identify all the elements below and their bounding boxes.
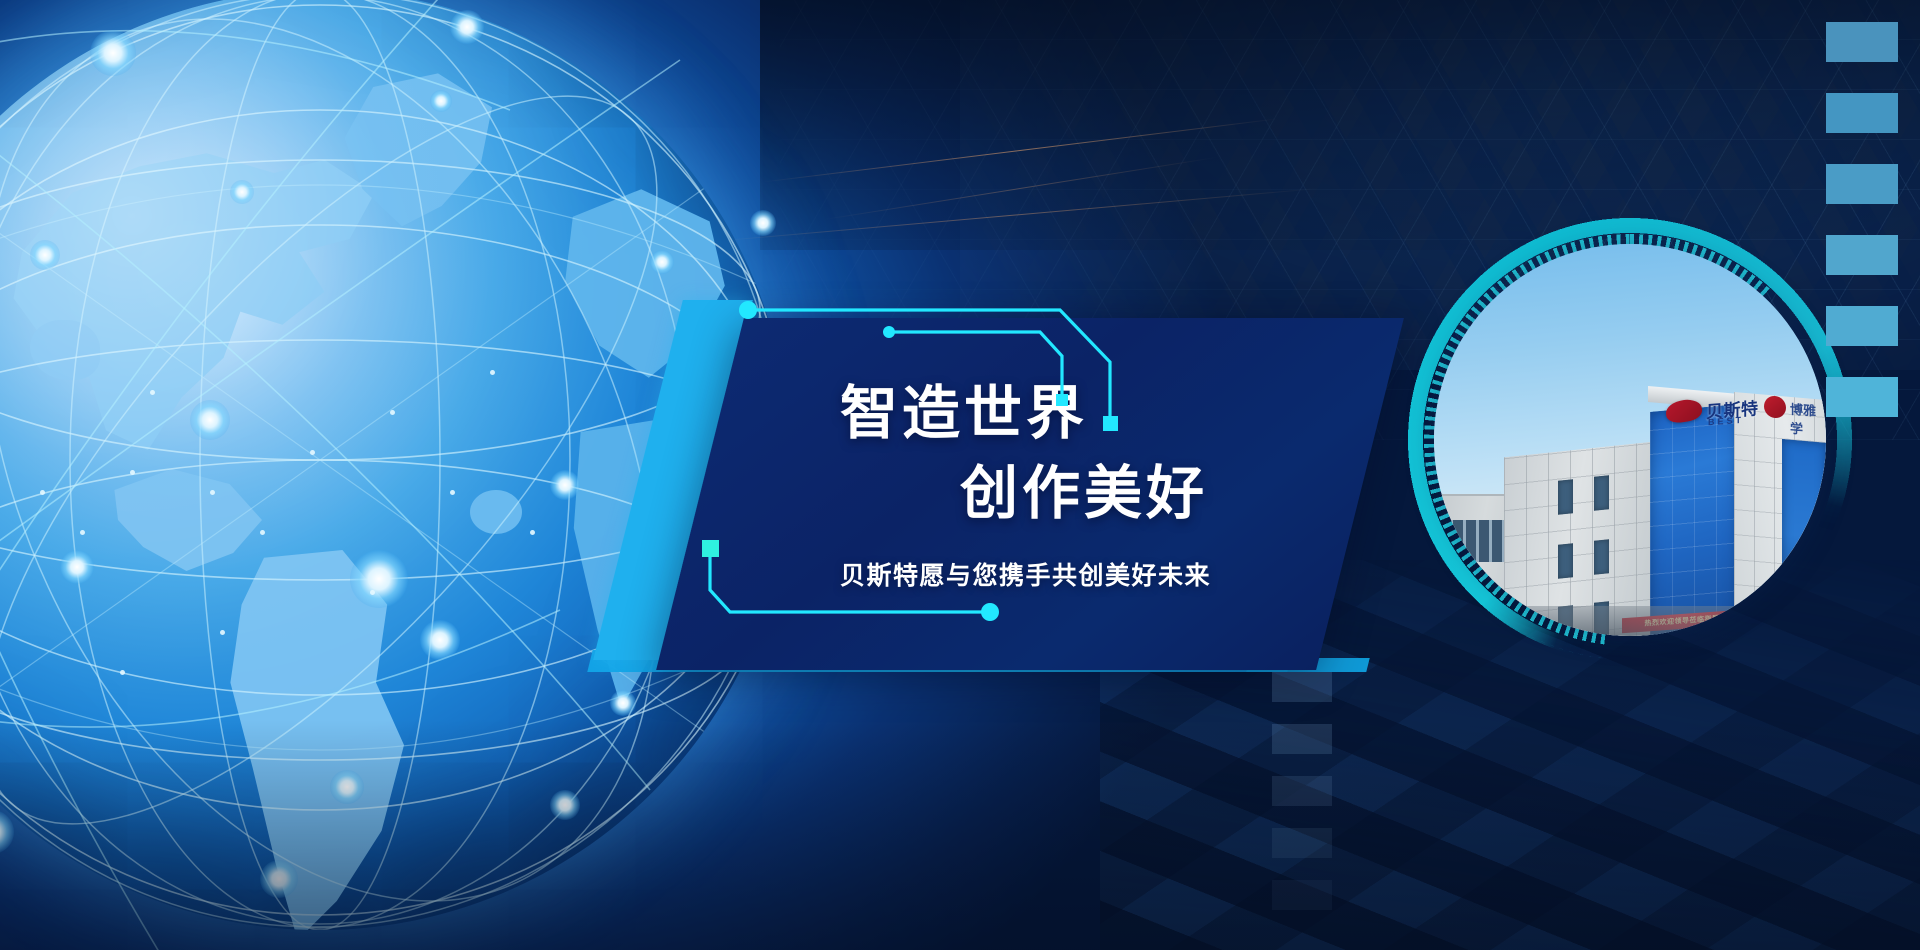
edge-bar-5 bbox=[1826, 306, 1898, 346]
globe-micro-dot bbox=[390, 410, 395, 415]
globe-node bbox=[330, 770, 364, 804]
continent-island-1 bbox=[30, 320, 100, 380]
globe-node bbox=[230, 180, 254, 204]
globe-node bbox=[650, 250, 674, 274]
globe-node bbox=[550, 470, 580, 500]
building-sign-secondary: 博雅学 bbox=[1790, 399, 1826, 440]
mid-bar-3 bbox=[1272, 776, 1332, 806]
globe-micro-dot bbox=[490, 370, 495, 375]
globe-micro-dot bbox=[120, 670, 125, 675]
globe-micro-dot bbox=[260, 530, 265, 535]
globe-micro-dot bbox=[370, 590, 375, 595]
globe-node bbox=[550, 790, 580, 820]
right-edge-bar-group bbox=[1826, 22, 1898, 448]
globe-micro-dot bbox=[130, 470, 135, 475]
building-window bbox=[1558, 543, 1573, 579]
globe-node bbox=[350, 550, 408, 608]
globe-micro-dot bbox=[40, 490, 45, 495]
edge-bar-3 bbox=[1826, 164, 1898, 204]
headline-line-1: 智造世界 bbox=[840, 366, 1088, 450]
continent-greenland bbox=[330, 70, 510, 240]
globe-node bbox=[420, 620, 460, 660]
globe-node bbox=[430, 90, 452, 112]
globe-micro-dot bbox=[80, 530, 85, 535]
continent-central-america bbox=[100, 460, 280, 610]
globe-micro-dot bbox=[150, 390, 155, 395]
mid-bar-2 bbox=[1272, 724, 1332, 754]
globe-node bbox=[610, 690, 636, 716]
mid-bar-4 bbox=[1272, 828, 1332, 858]
globe-node bbox=[450, 10, 484, 44]
continent-island-2 bbox=[470, 490, 522, 534]
company-building-photo: 贝斯特 BEST 博雅学 热烈欢迎领导莅临指导 bbox=[1434, 244, 1826, 636]
photo-ground bbox=[1434, 606, 1826, 636]
globe-node bbox=[30, 240, 60, 270]
edge-bar-6 bbox=[1826, 377, 1898, 417]
continent-south-america bbox=[180, 550, 460, 930]
building-window bbox=[1594, 539, 1609, 575]
edge-bar-1 bbox=[1826, 22, 1898, 62]
globe-micro-dot bbox=[210, 490, 215, 495]
globe-node bbox=[90, 30, 136, 76]
edge-bar-4 bbox=[1826, 235, 1898, 275]
globe-micro-dot bbox=[450, 490, 455, 495]
mid-bar-1 bbox=[1272, 672, 1332, 702]
building-glass-curtain bbox=[1650, 404, 1738, 636]
building-window bbox=[1594, 475, 1609, 511]
banner-subtitle: 贝斯特愿与您携手共创美好未来 bbox=[840, 556, 1211, 592]
secondary-logo-mark bbox=[1764, 395, 1786, 419]
lower-mid-bar-group bbox=[1272, 672, 1332, 932]
edge-bar-2 bbox=[1826, 93, 1898, 133]
headline-line-2: 创作美好 bbox=[960, 446, 1208, 530]
panel-text-group: 智造世界 创作美好 贝斯特愿与您携手共创美好未来 bbox=[700, 318, 1400, 670]
globe-micro-dot bbox=[530, 530, 535, 535]
hero-banner: 智造世界 创作美好 贝斯特愿与您携手共创美好未来 bbox=[0, 0, 1920, 950]
globe-node bbox=[260, 860, 298, 898]
building-window bbox=[1558, 479, 1573, 515]
globe-micro-dot bbox=[310, 450, 315, 455]
globe-node bbox=[190, 400, 230, 440]
globe-micro-dot bbox=[220, 630, 225, 635]
globe-node bbox=[750, 210, 776, 236]
building-glass-curtain-right bbox=[1782, 439, 1826, 633]
globe-node bbox=[60, 550, 94, 584]
circular-photo-badge: 贝斯特 BEST 博雅学 热烈欢迎领导莅临指导 bbox=[1390, 200, 1870, 680]
mid-bar-5 bbox=[1272, 880, 1332, 910]
